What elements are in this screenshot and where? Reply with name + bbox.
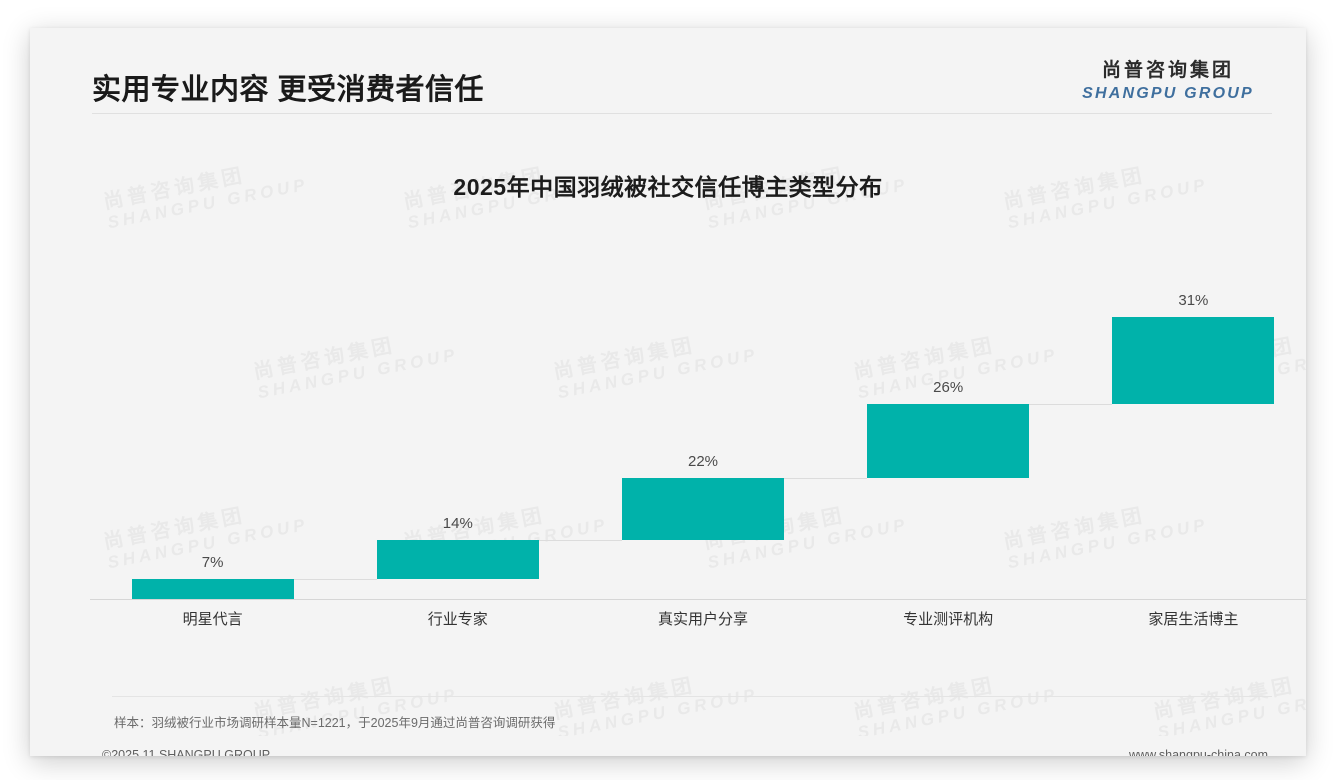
chart-category-label: 行业专家 [348,608,568,629]
header-divider [92,113,1272,114]
chart-bar-value-label: 22% [643,453,763,470]
chart-bar [867,404,1029,477]
footnote-divider [112,696,1272,697]
screenshot-root: 尚普咨询集团SHANGPU GROUP尚普咨询集团SHANGPU GROUP尚普… [0,0,1340,780]
slide-header: 实用专业内容 更受消费者信任 尚普咨询集团 SHANGPU GROUP [30,28,1306,114]
slide-card: 尚普咨询集团SHANGPU GROUP尚普咨询集团SHANGPU GROUP尚普… [30,28,1306,756]
chart-footnote: 样本：羽绒被行业市场调研样本量N=1221，于2025年9月通过尚普咨询调研获得 [114,712,555,731]
watermark-text: 尚普咨询集团SHANGPU GROUP [252,324,460,402]
chart-bar-value-label: 26% [888,379,1008,396]
chart-title: 2025年中国羽绒被社交信任博主类型分布 [30,168,1306,202]
watermark-text: 尚普咨询集团SHANGPU GROUP [552,664,760,742]
chart-bar [622,478,784,540]
chart-bar [132,579,294,599]
brand-logo-cn: 尚普咨询集团 [1068,60,1268,83]
chart-axis-line [90,599,1306,600]
slide-footer: ©2025.11 SHANGPU GROUP www.shangpu-china… [30,736,1306,756]
watermark-text: 尚普咨询集团SHANGPU GROUP [1152,664,1306,742]
chart-bar-value-label: 14% [398,515,518,532]
watermark-text: 尚普咨询集团SHANGPU GROUP [552,324,760,402]
brand-logo: 尚普咨询集团 SHANGPU GROUP [1068,60,1268,103]
chart-category-label: 家居生活博主 [1083,608,1303,629]
watermark-text: 尚普咨询集团SHANGPU GROUP [852,664,1060,742]
chart-category-label: 真实用户分享 [593,608,813,629]
chart-bar [1112,317,1274,404]
watermark-text: 尚普咨询集团SHANGPU GROUP [1002,494,1210,572]
chart-bar-value-label: 31% [1133,292,1253,309]
footer-website: www.shangpu-china.com [1129,748,1268,756]
chart-category-label: 明星代言 [103,608,323,629]
waterfall-connector [294,579,377,580]
waterfall-connector [784,478,867,479]
page-title: 实用专业内容 更受消费者信任 [92,76,484,105]
waterfall-connector [539,540,622,541]
chart-category-label: 专业测评机构 [838,608,1058,629]
brand-logo-en: SHANGPU GROUP [1068,84,1268,103]
waterfall-connector [1029,404,1112,405]
chart-bar [377,540,539,579]
footer-copyright: ©2025.11 SHANGPU GROUP [102,748,270,756]
chart-bar-value-label: 7% [153,554,273,571]
